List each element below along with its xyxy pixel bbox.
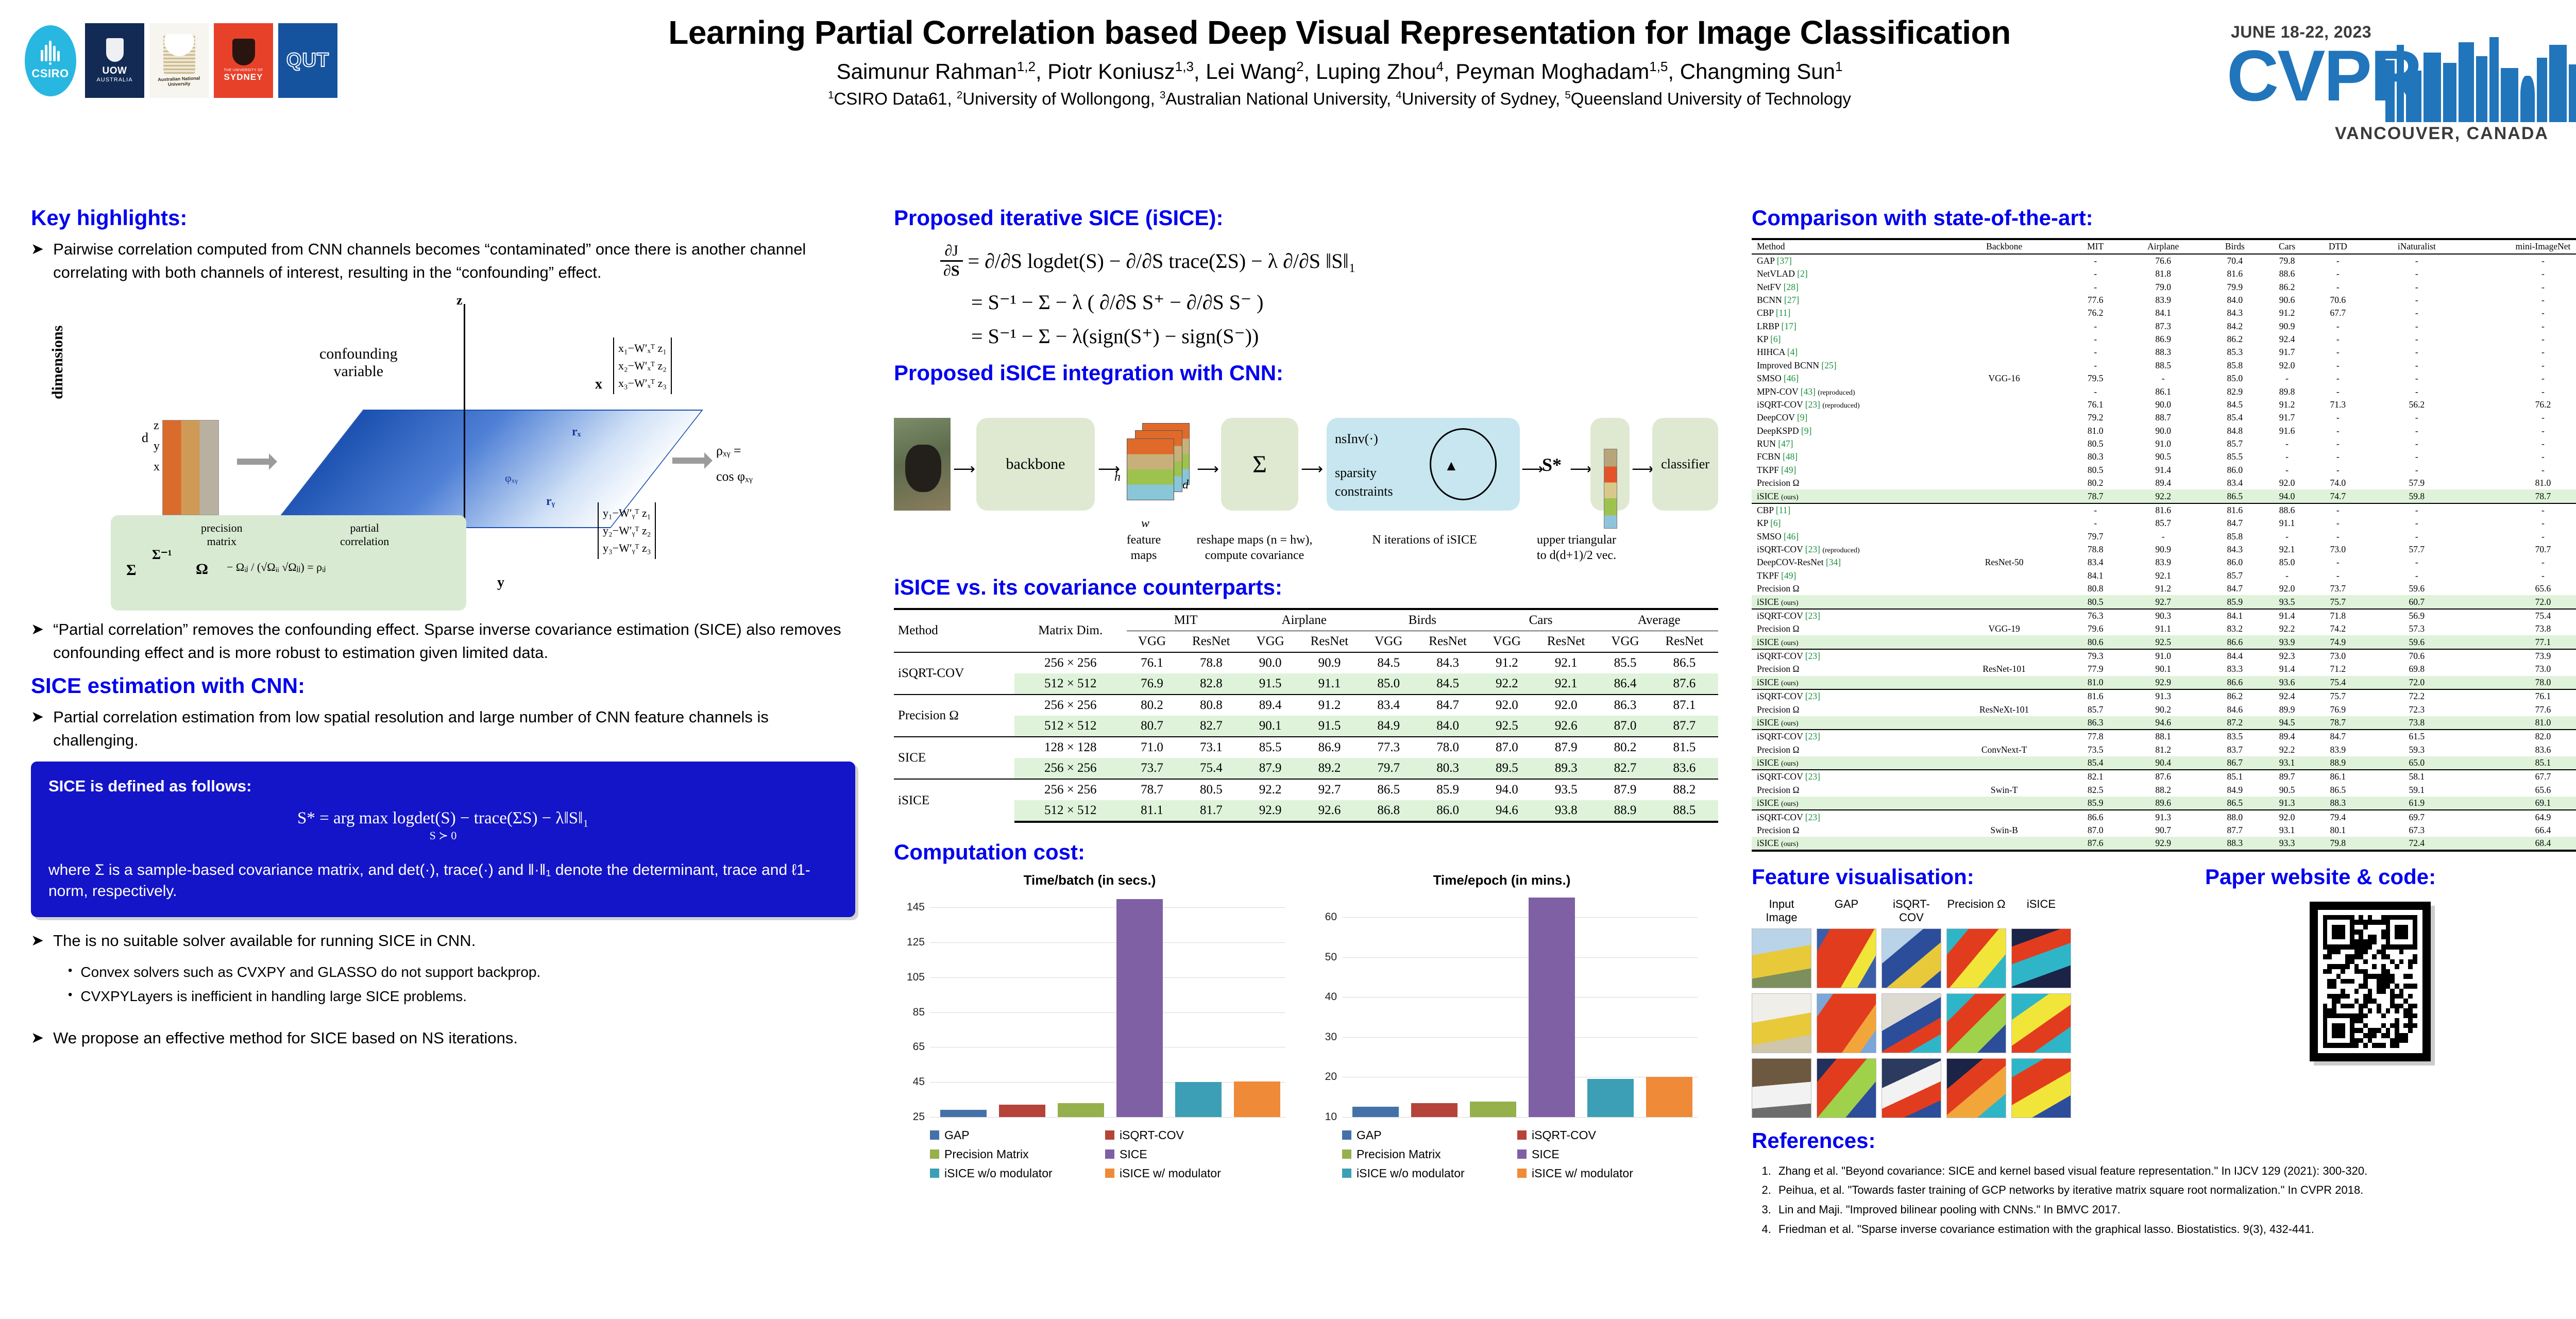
table-row: HIHCA [4]-88.385.391.7---	[1752, 346, 2576, 359]
cell-value: 73.7	[2311, 582, 2365, 595]
cell-value: 90.9	[2263, 319, 2311, 332]
partial-correlation-label: partial correlation	[340, 521, 389, 548]
cell-value: 73.0	[2311, 543, 2365, 556]
legend-label: iSQRT-COV	[1532, 1128, 1596, 1142]
cell-value: 56.2	[2365, 398, 2469, 411]
cell-value: 85.9	[2071, 797, 2120, 810]
chart-y-tick: 10	[1325, 1111, 1337, 1123]
legend-swatch-icon	[1517, 1130, 1527, 1140]
bullet-text-2: “Partial correlation” removes the confou…	[53, 618, 855, 665]
cvpr-city: VANCOUVER, CANADA	[2335, 124, 2549, 144]
cell-value: -	[2365, 464, 2469, 477]
cell-value: 73.8	[2469, 622, 2576, 635]
cell-value: 79.9	[2207, 280, 2263, 293]
cell-value: 84.5	[1414, 673, 1481, 695]
derivation-line-2: = S⁻¹ − Σ − λ ( ∂/∂S S⁺ − ∂/∂S S⁻ )	[971, 292, 1718, 313]
cell-value: 92.7	[1296, 779, 1363, 800]
arrow-bullet-icon-4: ➤	[31, 929, 44, 953]
legend-swatch-icon	[930, 1130, 939, 1140]
cell-value: 89.4	[2263, 730, 2311, 743]
sota-th-inaturalist: iNaturalist	[2365, 239, 2469, 253]
author-list: Saimunur Rahman1,2, Piotr Koniusz1,3, Le…	[464, 59, 2215, 84]
cell-value: 92.9	[2120, 837, 2207, 851]
sigma-inverse-symbol: Σ⁻¹	[152, 547, 172, 563]
cell-method: KP [6]	[1752, 333, 1937, 346]
cell-value: 80.2	[1127, 695, 1177, 716]
chart-legend-item: iSICE w/ modulator	[1517, 1166, 1692, 1180]
cell-value: 84.7	[1414, 695, 1481, 716]
cell-value: -	[2071, 359, 2120, 372]
cell-value: 86.0	[2207, 556, 2263, 569]
pipeline-sstar-label: S*	[1542, 454, 1562, 476]
table-row: TKPF [49]84.192.185.7----	[1752, 569, 2576, 582]
pipeline-h-label: h	[1114, 470, 1121, 484]
section-computation-cost: Computation cost:	[894, 840, 1718, 864]
cell-value: 87.9	[1532, 737, 1600, 758]
cell-value: 79.5	[2071, 372, 2120, 385]
isice-table-group-header: Method Matrix Dim. MIT Airplane Birds Ca…	[894, 609, 1718, 631]
fv-cell	[1817, 1058, 1876, 1118]
table-row: iSQRT-COV [23]81.691.386.292.475.772.276…	[1752, 689, 2576, 703]
cell-method: Precision Ω	[1752, 703, 1937, 716]
cell-method: TKPF [49]	[1752, 464, 1937, 477]
cell-value: 92.0	[1482, 695, 1532, 716]
cell-value: 86.2	[2207, 689, 2263, 703]
cell-value: 86.9	[2120, 333, 2207, 346]
table-row: NetFV [28]-79.079.986.2---	[1752, 280, 2576, 293]
cell-value: 73.9	[2469, 649, 2576, 663]
omega-symbol: Ω	[196, 561, 208, 578]
cell-value: 87.9	[1245, 758, 1295, 779]
chart-legend-item: iSICE w/o modulator	[1342, 1166, 1517, 1180]
pipeline-classifier-label: classifier	[1661, 456, 1709, 472]
th-group-airplane: Airplane	[1245, 609, 1363, 631]
cell-value: 84.7	[2207, 582, 2263, 595]
sice-card-line1: SICE is defined as follows:	[48, 777, 838, 796]
cell-value: -	[2365, 346, 2469, 359]
reference-item: Lin and Maji. "Improved bilinear pooling…	[1774, 1200, 2576, 1220]
cell-value: -	[2469, 569, 2576, 582]
cell-value: 65.0	[2365, 756, 2469, 770]
cell-value: 88.6	[2263, 503, 2311, 517]
cell-value: 87.6	[1651, 673, 1718, 695]
cell-method: iSICE (ours)	[1752, 635, 1937, 649]
cell-value: 92.4	[2263, 333, 2311, 346]
cell-value: 80.5	[2071, 595, 2120, 608]
section-sice-estimation: SICE estimation with CNN:	[31, 674, 855, 698]
cell-value: 79.7	[1363, 758, 1414, 779]
chart-gridline	[930, 1117, 1285, 1118]
th-birds-vgg: VGG	[1363, 631, 1414, 652]
cell-value: 89.4	[2120, 477, 2207, 489]
cell-method: Precision Ω	[1752, 582, 1937, 595]
th-birds-resnet: ResNet	[1414, 631, 1481, 652]
cell-value: 70.6	[2365, 649, 2469, 663]
cell-value: 85.9	[1414, 779, 1481, 800]
cell-value: 86.5	[2207, 489, 2263, 503]
cell-backbone	[1937, 385, 2071, 398]
arrow-bullet-icon-3: ➤	[31, 706, 44, 752]
cell-value: 68.4	[2469, 837, 2576, 851]
table-row: iSICE (ours)80.592.785.993.575.760.772.0	[1752, 595, 2576, 608]
cell-value: -	[2365, 307, 2469, 319]
affiliation-list: 1CSIRO Data61, 2University of Wollongong…	[464, 89, 2215, 109]
cell-value: 69.8	[2365, 663, 2469, 675]
cell-backbone: ResNet-50	[1937, 556, 2071, 569]
table-row: iSQRT-COV [23] (reproduced)78.890.984.39…	[1752, 543, 2576, 556]
chart-bar[interactable]	[1470, 1102, 1516, 1117]
cell-method: iSQRT-COV [23]	[1752, 810, 1937, 823]
cell-value: 74.2	[2311, 622, 2365, 635]
cell-method: CBP [11]	[1752, 503, 1937, 517]
cell-backbone	[1937, 254, 2071, 267]
pipeline-d-label: d	[1182, 478, 1189, 492]
cell-value: -	[2263, 372, 2311, 385]
cell-value: -	[2469, 503, 2576, 517]
pipeline-constraints-label: constraints	[1335, 484, 1393, 499]
cell-value: 77.3	[1363, 737, 1414, 758]
table-row: 512 × 51280.782.790.191.584.984.092.592.…	[894, 716, 1718, 737]
cell-value: 64.9	[2469, 810, 2576, 823]
cell-value: 92.0	[2263, 477, 2311, 489]
cell-value: 85.5	[2207, 450, 2263, 463]
cell-backbone: VGG-16	[1937, 372, 2071, 385]
cell-value: 81.0	[2469, 716, 2576, 730]
isice-table-head: Method Matrix Dim. MIT Airplane Birds Ca…	[894, 609, 1718, 652]
chart-y-tick: 50	[1325, 951, 1337, 963]
cell-value: 90.5	[2120, 450, 2207, 463]
cell-matrix-dim: 256 × 256	[1014, 652, 1127, 673]
rx-label: rₓ	[572, 425, 581, 439]
cell-value: -	[2311, 372, 2365, 385]
pipeline-sigma-box: Σ	[1221, 418, 1298, 511]
fv-cell	[1882, 993, 1941, 1053]
legend-label: iSICE w/o modulator	[1357, 1166, 1465, 1180]
cell-value: 70.7	[2469, 543, 2576, 556]
chart-bar[interactable]	[1352, 1107, 1399, 1117]
cell-backbone: ResNeXt-101	[1937, 703, 2071, 716]
chart-bar[interactable]	[940, 1110, 987, 1117]
cell-value: 85.4	[2071, 756, 2120, 770]
isice-cnn-pipeline: ⟶ backbone ⟶ h d w ⟶ Σ ⟶ nsInv(·) sparsi…	[894, 393, 1718, 563]
arrow-right-icon-2	[672, 458, 708, 464]
table-row: iSQRT-COV [23]82.187.685.189.786.158.167…	[1752, 770, 2576, 783]
legend-swatch-icon	[930, 1169, 939, 1178]
cell-value: 94.5	[2263, 716, 2311, 730]
vancouver-skyline-icon	[2381, 27, 2576, 122]
pipeline-arrow-6-icon: ⟶	[1570, 460, 1592, 478]
table-row: 512 × 51276.982.891.591.185.084.592.292.…	[894, 673, 1718, 695]
cell-value: -	[2071, 280, 2120, 293]
cell-value: 70.6	[2311, 294, 2365, 307]
cell-value: 67.7	[2311, 307, 2365, 319]
cell-value: 91.2	[1296, 695, 1363, 716]
cell-method: Precision Ω	[1752, 824, 1937, 837]
cell-method: iSICE (ours)	[1752, 595, 1937, 608]
chart-bar[interactable]	[1529, 898, 1575, 1117]
table-row: iSICE (ours)87.692.988.393.379.872.468.4	[1752, 837, 2576, 851]
th-cars-resnet: ResNet	[1532, 631, 1600, 652]
fv-cell	[2011, 993, 2071, 1053]
cell-value: 84.5	[2207, 398, 2263, 411]
column-right: Comparison with state-of-the-art: Method…	[1752, 206, 2576, 1239]
cell-value: 92.1	[2120, 569, 2207, 582]
chart-legend-item: Precision Matrix	[1342, 1147, 1517, 1161]
cell-value: 91.7	[2263, 411, 2311, 424]
sota-th-mini-imagenet: mini-ImageNet	[2469, 239, 2576, 253]
cell-backbone	[1937, 689, 2071, 703]
cell-value: -	[2365, 556, 2469, 569]
cell-value: 76.9	[1127, 673, 1177, 695]
cell-method: iSICE (ours)	[1752, 716, 1937, 730]
legend-label: iSICE w/ modulator	[1120, 1166, 1221, 1180]
chart-legend-item: Precision Matrix	[930, 1147, 1105, 1161]
chart-y-tick: 105	[907, 971, 925, 984]
table-row: DeepKSPD [9]81.090.084.891.6---	[1752, 424, 2576, 437]
cell-value: 83.9	[2120, 556, 2207, 569]
cell-value: 91.4	[2263, 663, 2311, 675]
chart-bar[interactable]	[1058, 1103, 1104, 1117]
cell-value: 57.3	[2365, 622, 2469, 635]
cell-value: -	[2469, 411, 2576, 424]
cell-value: 88.2	[2120, 784, 2207, 797]
cell-method: iSICE (ours)	[1752, 797, 1937, 810]
cell-value: -	[2263, 437, 2311, 450]
fv-cell	[1817, 993, 1876, 1053]
cell-value: 77.6	[2071, 294, 2120, 307]
cell-value: 85.8	[2207, 530, 2263, 543]
cell-method: KP [6]	[1752, 517, 1937, 530]
cell-value: 74.7	[2311, 489, 2365, 503]
cell-value: 73.5	[2071, 743, 2120, 756]
cell-value: 93.8	[1532, 800, 1600, 822]
cell-backbone	[1937, 837, 2071, 851]
cell-value: 93.1	[2263, 756, 2311, 770]
cell-method: Improved BCNN [25]	[1752, 359, 1937, 372]
cell-value: -	[2469, 359, 2576, 372]
chart-legend-item: SICE	[1517, 1147, 1692, 1161]
qr-code[interactable]	[2310, 902, 2431, 1061]
cell-value: 91.3	[2120, 689, 2207, 703]
legend-swatch-icon	[1517, 1149, 1527, 1159]
cell-method: SMSO [46]	[1752, 372, 1937, 385]
cell-backbone	[1937, 770, 2071, 783]
chart-legend-item: iSQRT-COV	[1105, 1128, 1280, 1142]
fv-cell	[1946, 993, 2006, 1053]
cell-backbone	[1937, 437, 2071, 450]
cell-value: 87.1	[1651, 695, 1718, 716]
cell-method: Precision Ω	[1752, 743, 1937, 756]
cell-value: -	[2311, 411, 2365, 424]
chart-bar[interactable]	[1234, 1081, 1280, 1117]
table-row: SMSO [46]VGG-1679.5-85.0----	[1752, 372, 2576, 385]
cell-value: 92.6	[1296, 800, 1363, 822]
cell-value: 88.3	[2120, 346, 2207, 359]
confounding-diagram: z x y confounding variable dimensions d …	[31, 294, 835, 613]
cell-method: GAP [37]	[1752, 254, 1937, 267]
chart-bar[interactable]	[1116, 899, 1163, 1117]
cell-method: RUN [47]	[1752, 437, 1937, 450]
cell-value: -	[2469, 385, 2576, 398]
cell-value: 92.7	[2120, 595, 2207, 608]
cell-backbone	[1937, 609, 2071, 622]
cell-value: 80.5	[2071, 437, 2120, 450]
cell-value: 89.6	[2120, 797, 2207, 810]
cell-value: 85.1	[2207, 770, 2263, 783]
cell-backbone	[1937, 307, 2071, 319]
cell-value: 85.0	[2207, 372, 2263, 385]
matrix-x-row-3: x₃−W′ₓᵀ z₃	[618, 375, 667, 392]
column-left: Key highlights: ➤ Pairwise correlation c…	[31, 206, 855, 1059]
chart-y-tick: 85	[913, 1006, 925, 1019]
cell-value: 84.8	[2207, 424, 2263, 437]
cell-value: 91.2	[2120, 582, 2207, 595]
fv-cell	[1946, 1058, 2006, 1118]
cell-value: 83.5	[2207, 730, 2263, 743]
cell-value: 85.0	[1363, 673, 1414, 695]
fv-cell	[1882, 1058, 1941, 1118]
pipeline-isice-box: nsInv(·) sparsity constraints ▲	[1327, 418, 1520, 511]
cell-value: 72.4	[2365, 837, 2469, 851]
chart-y-tick: 40	[1325, 991, 1337, 1003]
table-row: iSICE (ours)80.692.586.693.974.959.677.1	[1752, 635, 2576, 649]
cell-value: 69.7	[2365, 810, 2469, 823]
cell-value: 71.8	[2311, 609, 2365, 622]
cell-method: CBP [11]	[1752, 307, 1937, 319]
cell-value: 86.5	[2207, 797, 2263, 810]
table-row: Improved BCNN [25]-88.585.892.0---	[1752, 359, 2576, 372]
chart-title: Time/epoch (in mins.)	[1306, 872, 1698, 888]
pipeline-arrow-1-icon: ⟶	[953, 460, 975, 478]
cell-value: 90.4	[2120, 756, 2207, 770]
cell-value: 78.0	[1414, 737, 1481, 758]
th-group-birds: Birds	[1363, 609, 1482, 631]
cell-value: -	[2469, 556, 2576, 569]
axis-z-label: z	[456, 293, 463, 308]
chart-bar[interactable]	[1175, 1082, 1222, 1117]
section-key-highlights: Key highlights:	[31, 206, 855, 230]
cell-value: -	[2071, 254, 2120, 267]
cell-value: -	[2311, 346, 2365, 359]
cell-value: 86.2	[2207, 333, 2263, 346]
cell-value: 85.9	[2207, 595, 2263, 608]
cell-value: 59.6	[2365, 635, 2469, 649]
cell-value: 78.7	[2311, 716, 2365, 730]
cell-value: -	[2071, 503, 2120, 517]
cell-value: 93.1	[2263, 824, 2311, 837]
cell-value: 93.3	[2263, 837, 2311, 851]
bullet-text-5: We propose an effective method for SICE …	[53, 1027, 518, 1050]
table-row: iSQRT-COV [23] (reproduced)76.190.084.59…	[1752, 398, 2576, 411]
pipeline-backbone-box: backbone	[976, 418, 1095, 511]
cell-value: -	[2469, 372, 2576, 385]
cell-value: -	[2120, 530, 2207, 543]
table-row: Precision ΩSwin-T82.588.284.990.586.559.…	[1752, 784, 2576, 797]
cell-value: 79.8	[2263, 254, 2311, 267]
table-row: KP [6]-85.784.791.1---	[1752, 517, 2576, 530]
cell-backbone: ConvNext-T	[1937, 743, 2071, 756]
cell-method: HIHCA [4]	[1752, 346, 1937, 359]
cell-matrix-dim: 512 × 512	[1014, 800, 1127, 822]
fv-cell	[1882, 928, 1941, 988]
chart-bar[interactable]	[1646, 1077, 1692, 1117]
cell-backbone	[1937, 398, 2071, 411]
cell-value: 92.1	[1532, 652, 1600, 673]
cell-value: 85.1	[2469, 756, 2576, 770]
sota-th-birds: Birds	[2207, 239, 2263, 253]
legend-label: SICE	[1120, 1147, 1147, 1161]
cell-value: 78.8	[1177, 652, 1245, 673]
cell-matrix-dim: 512 × 512	[1014, 716, 1127, 737]
table-row: iSICE (ours)86.394.687.294.578.773.881.0	[1752, 716, 2576, 730]
cell-value: 57.7	[2365, 543, 2469, 556]
logo-uow-label: UOW	[103, 66, 127, 76]
logo-sydney-sub: THE UNIVERSITY OF	[224, 69, 263, 72]
cell-value: 88.7	[2120, 411, 2207, 424]
cell-value: 85.7	[2071, 703, 2120, 716]
cell-backbone	[1937, 477, 2071, 489]
cell-value: 73.0	[2311, 649, 2365, 663]
bullet-item: ➤ Pairwise correlation computed from CNN…	[31, 238, 855, 284]
fv-column-header: Input Image	[1752, 898, 1811, 924]
legend-label: iSQRT-COV	[1120, 1128, 1184, 1142]
cell-method: iSQRT-COV [23]	[1752, 730, 1937, 743]
cell-value: 90.3	[2120, 609, 2207, 622]
pipeline-caption-2: reshape maps (n = hw), compute covarianc…	[1182, 532, 1327, 563]
cell-value: 81.6	[2071, 689, 2120, 703]
cell-backbone	[1937, 797, 2071, 810]
table-row: 256 × 25673.775.487.989.279.780.389.589.…	[894, 758, 1718, 779]
legend-swatch-icon	[1342, 1169, 1351, 1178]
feature-maps-icon	[1125, 423, 1192, 505]
table-row: iSQRT-COV256 × 25676.178.890.090.984.584…	[894, 652, 1718, 673]
cell-value: 85.5	[1245, 737, 1295, 758]
table-row: KP [6]-86.986.292.4---	[1752, 333, 2576, 346]
chart-bar[interactable]	[999, 1105, 1045, 1117]
cell-value: 86.9	[1296, 737, 1363, 758]
table-row: NetVLAD [2]-81.881.688.6---	[1752, 267, 2576, 280]
section-cnn-integration: Proposed iSICE integration with CNN:	[894, 361, 1718, 385]
cell-method: iSICE (ours)	[1752, 489, 1937, 503]
cell-value: 79.2	[2071, 411, 2120, 424]
sota-th-airplane: Airplane	[2120, 239, 2207, 253]
cell-value: 92.1	[1532, 673, 1600, 695]
table-row: iSICE (ours)85.490.486.793.188.965.085.1	[1752, 756, 2576, 770]
cell-value: -	[2469, 464, 2576, 477]
cell-method: LRBP [17]	[1752, 319, 1937, 332]
cell-value: -	[2365, 503, 2469, 517]
cell-value: 70.4	[2207, 254, 2263, 267]
isice-derivation: ∂J∂S = ∂/∂S logdet(S) − ∂/∂S trace(ΣS) −…	[940, 243, 1718, 347]
table-row: CBP [11]-81.681.688.6---	[1752, 503, 2576, 517]
cell-value: 87.6	[2071, 837, 2120, 851]
cell-backbone	[1937, 503, 2071, 517]
cell-value: 89.9	[2263, 703, 2311, 716]
chart-bar[interactable]	[1587, 1079, 1634, 1117]
table-row: SMSO [46]79.7-85.8----	[1752, 530, 2576, 543]
cell-value: 77.8	[2071, 730, 2120, 743]
cell-value: 89.7	[2263, 770, 2311, 783]
input-image-thumbnail	[894, 418, 951, 511]
cell-value: -	[2071, 346, 2120, 359]
chart-gridline	[1342, 1117, 1698, 1118]
matrix-y-row-2: y₂−W′ᵧᵀ z₂	[603, 522, 651, 539]
cell-value: 67.7	[2469, 770, 2576, 783]
table-row: DeepCOV-ResNet [34]ResNet-5083.483.986.0…	[1752, 556, 2576, 569]
chart-bar[interactable]	[1411, 1103, 1458, 1117]
table-row: Precision Ω80.891.284.792.073.759.665.6	[1752, 582, 2576, 595]
poster-title: Learning Partial Correlation based Deep …	[464, 14, 2215, 52]
